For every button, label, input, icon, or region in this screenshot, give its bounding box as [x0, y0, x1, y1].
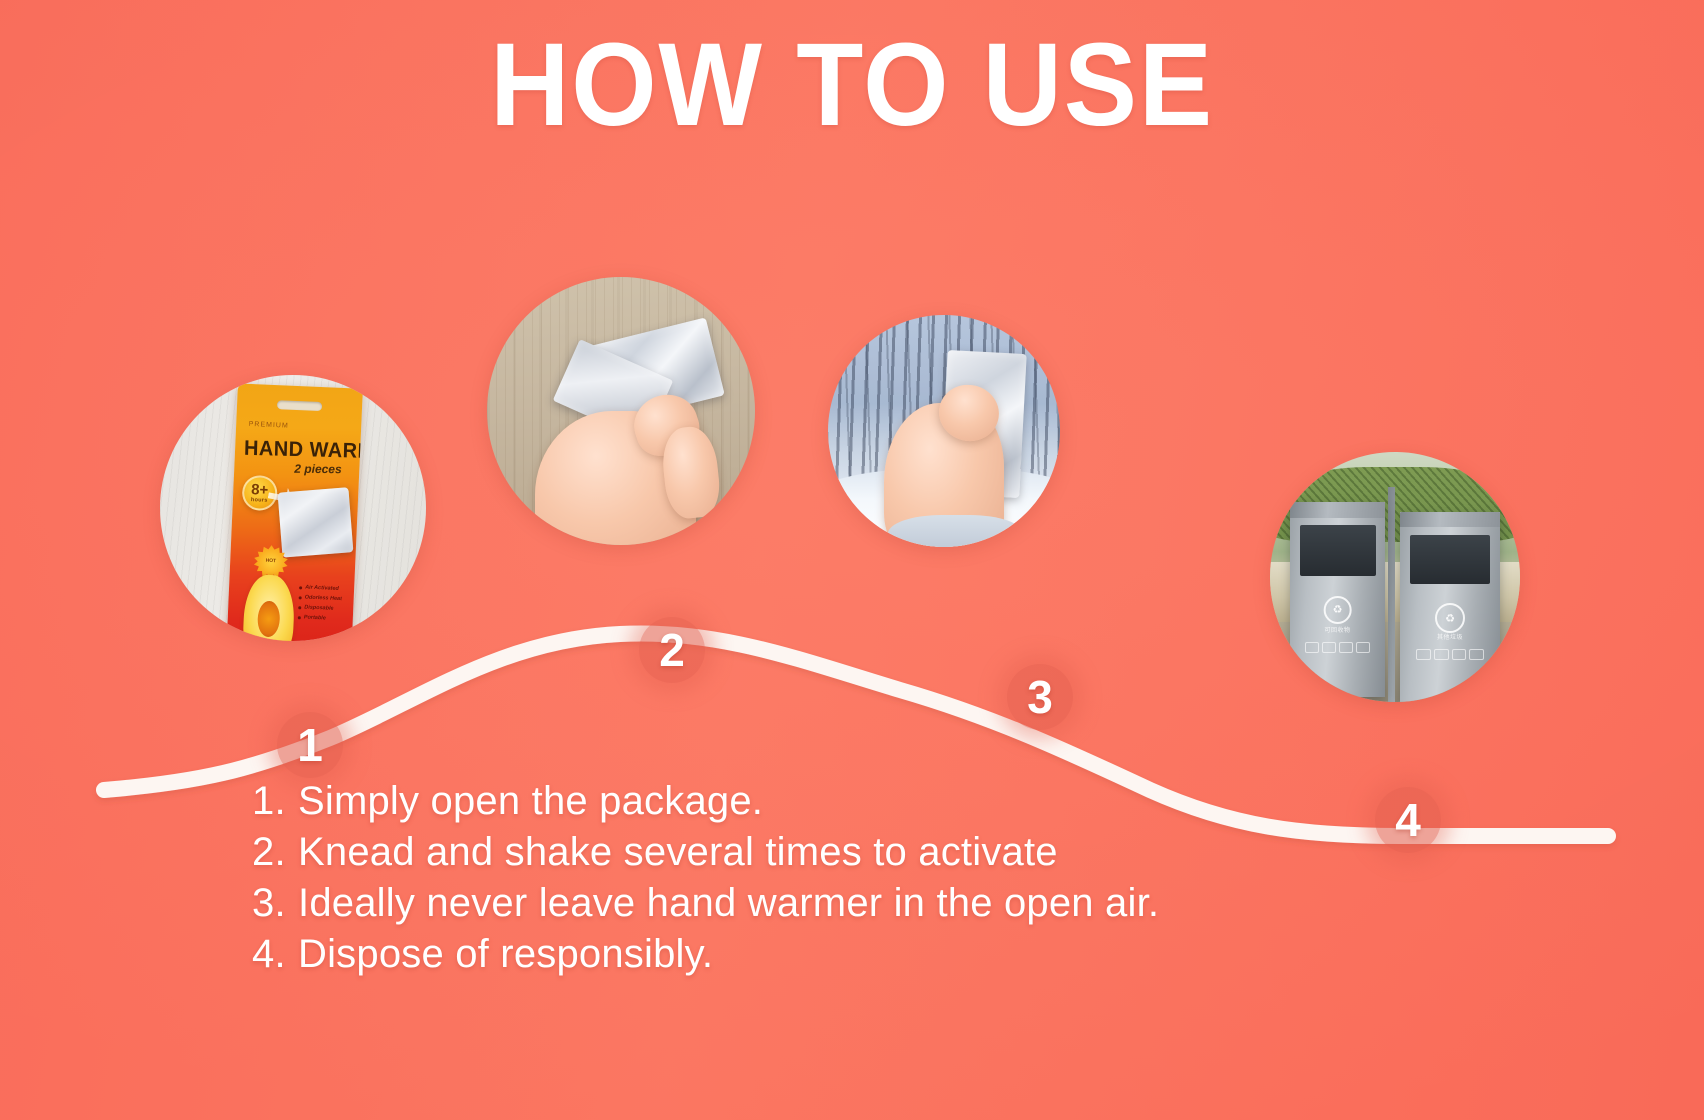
step-marker-4-label: 4 — [1395, 793, 1421, 847]
list-item: Portable — [298, 614, 353, 622]
step-marker-1[interactable]: 1 — [277, 712, 343, 778]
recycling-bin-right: ♻ 其他垃圾 — [1400, 512, 1500, 702]
step-marker-4[interactable]: 4 — [1375, 787, 1441, 853]
hand-warmer-package: PREMIUM HAND WARMER 2 pieces 8+ hours HO… — [226, 383, 363, 641]
step-2-photo-kneading-warmer — [487, 277, 755, 545]
package-brand-text: PREMIUM — [248, 420, 323, 430]
list-item: Odorless Heat — [298, 594, 353, 602]
bin-label-left: 可回收物 — [1324, 625, 1350, 634]
warmer-sachet-illustration — [277, 487, 353, 557]
instructions-list: 1. Simply open the package. 2. Knead and… — [252, 776, 1372, 980]
step-marker-2[interactable]: 2 — [639, 617, 705, 683]
step-4-photo-recycling-bins: ♻ 可回收物 ♻ 其他垃圾 — [1270, 452, 1520, 702]
bin-lid — [1290, 502, 1385, 518]
instruction-text: Knead and shake several times to activat… — [298, 827, 1058, 878]
list-item: Air Activated — [299, 584, 354, 592]
pictogram-icon — [1416, 649, 1431, 660]
feature-label: Disposable — [304, 604, 334, 611]
bin-pictogram-grid — [1305, 642, 1370, 653]
instruction-number: 1. — [252, 776, 298, 827]
recycling-bin-left: ♻ 可回收物 — [1290, 502, 1385, 697]
package-duration-badge: 8+ hours — [241, 474, 278, 511]
list-item: 4. Dispose of responsibly. — [252, 929, 1372, 980]
recycle-icon: ♻ — [1435, 603, 1465, 633]
pictogram-icon — [1469, 649, 1484, 660]
pictogram-icon — [1305, 642, 1319, 653]
step-3-photo-holding-in-snow — [828, 315, 1060, 547]
bin-opening — [1410, 535, 1490, 584]
step-1-photo-hand-warmer-package: PREMIUM HAND WARMER 2 pieces 8+ hours HO… — [160, 375, 426, 641]
list-item: 1. Simply open the package. — [252, 776, 1372, 827]
bin-opening — [1300, 525, 1376, 576]
pictogram-icon — [1356, 642, 1370, 653]
package-product-title: HAND WARMER — [244, 436, 354, 463]
package-quantity-text: 2 pieces — [294, 461, 341, 475]
step-marker-3-label: 3 — [1027, 670, 1053, 724]
infographic-canvas: HOW TO USE PREMIUM HAND WARMER 2 pieces … — [0, 0, 1704, 1120]
package-feature-list: Air Activated Odorless Heat Disposable P… — [297, 584, 354, 626]
badge-number: 8+ — [251, 482, 269, 498]
instruction-number: 2. — [252, 827, 298, 878]
recycle-icon: ♻ — [1323, 596, 1352, 625]
step-marker-3[interactable]: 3 — [1007, 664, 1073, 730]
pictogram-icon — [1434, 649, 1449, 660]
list-item: 3. Ideally never leave hand warmer in th… — [252, 878, 1372, 929]
step-marker-1-label: 1 — [297, 718, 323, 772]
list-item: 2. Knead and shake several times to acti… — [252, 827, 1372, 878]
feature-label: Portable — [304, 614, 326, 621]
sleeve — [888, 515, 1023, 547]
instruction-number: 3. — [252, 878, 298, 929]
bin-post — [1388, 487, 1396, 702]
step-marker-2-label: 2 — [659, 623, 685, 677]
instruction-number: 4. — [252, 929, 298, 980]
page-title: HOW TO USE — [60, 24, 1645, 148]
instruction-text: Dispose of responsibly. — [298, 929, 713, 980]
sunburst-label: HOT — [265, 559, 276, 565]
pictogram-icon — [1339, 642, 1353, 653]
bin-label-right: 其他垃圾 — [1437, 632, 1463, 641]
bin-pictogram-grid — [1416, 649, 1484, 660]
badge-unit: hours — [251, 497, 268, 504]
bullet-dot-icon — [298, 615, 301, 618]
package-hang-notch — [277, 400, 322, 411]
feature-label: Air Activated — [305, 584, 339, 591]
list-item: Disposable — [298, 604, 353, 612]
bullet-dot-icon — [298, 595, 301, 598]
pictogram-icon — [1322, 642, 1336, 653]
pictogram-icon — [1452, 649, 1467, 660]
instruction-text: Ideally never leave hand warmer in the o… — [298, 878, 1159, 929]
hand-graphic-icon — [242, 573, 296, 641]
feature-label: Odorless Heat — [304, 594, 342, 602]
instruction-text: Simply open the package. — [298, 776, 763, 827]
bullet-dot-icon — [299, 585, 302, 588]
bullet-dot-icon — [298, 605, 301, 608]
bin-lid — [1400, 512, 1500, 527]
